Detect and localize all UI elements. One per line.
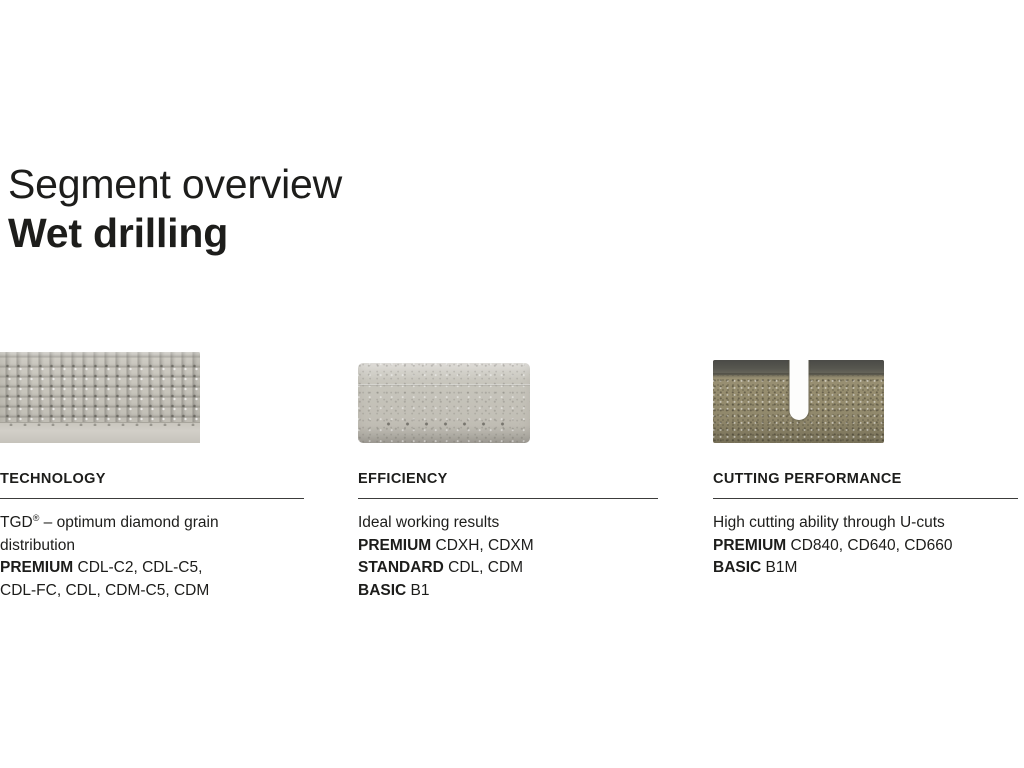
body-lead: PREMIUM xyxy=(713,537,786,554)
column-body-efficiency: Ideal working results PREMIUM CDXH, CDXM… xyxy=(358,512,658,602)
body-text: CD840, CD640, CD660 xyxy=(791,537,953,554)
segment-photo-plain-bar xyxy=(358,352,658,452)
body-lead: PREMIUM xyxy=(358,537,431,554)
column-heading-technology: TECHNOLOGY xyxy=(0,452,304,488)
body-line: BASIC B1M xyxy=(713,557,1018,580)
body-line: BASIC B1 xyxy=(358,580,658,603)
body-line: High cutting ability through U-cuts xyxy=(713,512,1018,535)
segment-edge-line xyxy=(358,384,530,386)
body-lead: BASIC xyxy=(358,582,406,599)
segment-speckle-texture xyxy=(358,363,530,443)
body-text: Ideal working results xyxy=(358,514,499,531)
body-line: STANDARD CDL, CDM xyxy=(358,557,658,580)
column-body-technology: TGD® – optimum diamond grain distributio… xyxy=(0,512,304,602)
body-line: PREMIUM CD840, CD640, CD660 xyxy=(713,535,1018,558)
body-line: distribution xyxy=(0,535,304,558)
column-divider-technology xyxy=(0,498,304,499)
body-text: CDXH, CDXM xyxy=(436,537,534,554)
segment-body-grain-grid xyxy=(0,352,200,443)
column-heading-efficiency: EFFICIENCY xyxy=(358,452,658,488)
body-text: B1M xyxy=(766,559,798,576)
page-title: Segment overview Wet drilling xyxy=(8,160,608,258)
column-technology: TECHNOLOGY TGD® – optimum diamond grain … xyxy=(0,352,304,602)
body-lead: PREMIUM xyxy=(0,559,73,576)
body-line: PREMIUM CDXH, CDXM xyxy=(358,535,658,558)
segment-body-u-cut xyxy=(713,360,884,443)
page-title-line-2: Wet drilling xyxy=(8,208,608,258)
segment-body-plain xyxy=(358,363,530,443)
registered-mark: ® xyxy=(33,513,40,523)
segment-base-band xyxy=(0,422,200,443)
body-line: TGD® – optimum diamond grain xyxy=(0,512,304,535)
body-line: CDL-FC, CDL, CDM-C5, CDM xyxy=(0,580,304,603)
body-text: B1 xyxy=(411,582,430,599)
body-lead: STANDARD xyxy=(358,559,444,576)
diamond-grain-grid xyxy=(2,361,198,421)
column-body-cutting-performance: High cutting ability through U-cuts PREM… xyxy=(713,512,1018,580)
body-text: High cutting ability through U-cuts xyxy=(713,514,945,531)
segment-pore-row xyxy=(379,421,520,427)
body-text: distribution xyxy=(0,537,75,554)
column-divider-efficiency xyxy=(358,498,658,499)
segment-photo-tgd-grain-grid xyxy=(0,352,304,452)
body-line: PREMIUM CDL-C2, CDL-C5, xyxy=(0,557,304,580)
segment-photo-u-cut xyxy=(713,352,1018,452)
u-cut-notch xyxy=(789,360,808,420)
column-divider-cutting-performance xyxy=(713,498,1018,499)
page-title-line-1: Segment overview xyxy=(8,160,608,208)
column-cutting-performance: CUTTING PERFORMANCE High cutting ability… xyxy=(713,352,1018,580)
body-text: CDL, CDM xyxy=(448,559,523,576)
column-efficiency: EFFICIENCY Ideal working results PREMIUM… xyxy=(358,352,658,602)
column-heading-cutting-performance: CUTTING PERFORMANCE xyxy=(713,452,1018,488)
body-text: CDL-FC, CDL, CDM-C5, CDM xyxy=(0,582,209,599)
slide-page: Segment overview Wet drilling TECHNOLOGY… xyxy=(0,0,1024,768)
body-text: TGD® – optimum diamond grain xyxy=(0,514,219,531)
body-lead: BASIC xyxy=(713,559,761,576)
body-text: CDL-C2, CDL-C5, xyxy=(78,559,203,576)
body-line: Ideal working results xyxy=(358,512,658,535)
